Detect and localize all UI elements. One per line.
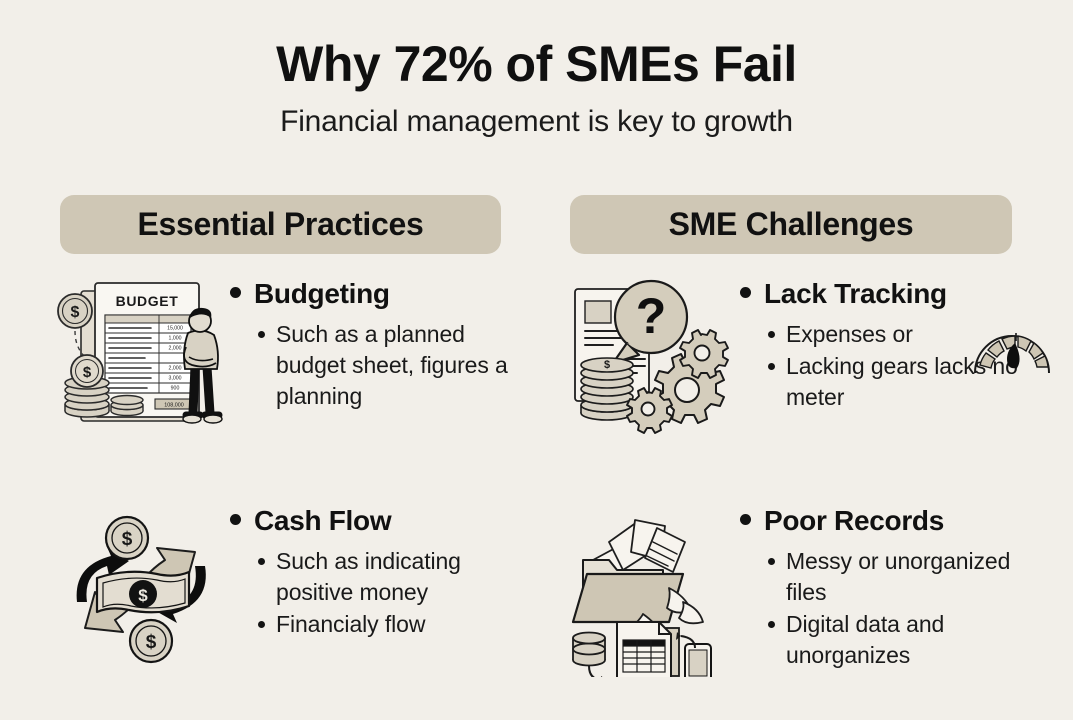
svg-text:3,000: 3,000 — [169, 376, 182, 382]
list-item: Such as indicating positive money — [258, 546, 525, 608]
main-bullet-cash-flow: Cash Flow — [230, 506, 525, 537]
sub-bullet-dot-icon — [258, 621, 265, 628]
svg-text:$: $ — [146, 632, 157, 653]
question-gears-coins-illustration: ? $ — [565, 275, 740, 440]
svg-text:$: $ — [83, 364, 92, 381]
column-sme-challenges: ? $ — [565, 275, 1035, 677]
sub-bullet-dot-icon — [258, 558, 265, 565]
question-bubble-icon: ? — [613, 281, 687, 363]
sub-bullet-dot-icon — [768, 331, 775, 338]
budget-sheet-icon: BUDGET — [55, 275, 230, 440]
svg-text:1,000: 1,000 — [169, 336, 182, 342]
main-bullet-budgeting: Budgeting — [230, 279, 525, 310]
sub-bullet-dot-icon — [258, 331, 265, 338]
svg-text:$: $ — [138, 586, 148, 605]
budget-sheet-illustration: BUDGET — [55, 275, 230, 440]
budgeting-text: Budgeting Such as a planned budget sheet… — [230, 275, 525, 413]
sub-points-lack-tracking: Expenses or Lacking gears lacks no meter — [768, 319, 1035, 413]
section-header-label: Essential Practices — [137, 206, 423, 243]
sub-bullet-dot-icon — [768, 558, 775, 565]
sub-point-text: Such as a planned budget sheet, figures … — [276, 319, 525, 412]
infographic-page: { "header": { "title": "Why 72% of SMEs … — [0, 0, 1073, 720]
sub-points-budgeting: Such as a planned budget sheet, figures … — [258, 319, 525, 412]
sub-bullet-dot-icon — [768, 363, 775, 370]
bullet-dot-icon — [230, 514, 241, 525]
lack-tracking-icon: ? $ — [565, 275, 740, 440]
sub-point-text: Financialy flow — [276, 609, 425, 640]
svg-text:2,000: 2,000 — [169, 346, 182, 352]
block-spacer — [565, 440, 1035, 502]
section-header-label: SME Challenges — [669, 206, 914, 243]
budget-sheet-title: BUDGET — [116, 293, 179, 309]
block-label: Cash Flow — [254, 506, 391, 537]
cash-flow-arrows-illustration: $ $ $ — [55, 502, 230, 667]
svg-text:2,000: 2,000 — [169, 366, 182, 372]
list-item: Expenses or — [768, 319, 1035, 350]
page-header: Why 72% of SMEs Fail Financial managemen… — [0, 38, 1073, 138]
smartphone-icon — [685, 644, 711, 677]
database-icon — [573, 633, 605, 666]
main-bullet-poor-records: Poor Records — [740, 506, 1035, 537]
svg-text:$: $ — [122, 529, 133, 550]
bullet-dot-icon — [740, 287, 751, 298]
page-subtitle: Financial management is key to growth — [0, 105, 1073, 138]
poor-records-icon — [565, 502, 740, 677]
column-essential-practices: BUDGET — [55, 275, 525, 667]
bullet-dot-icon — [740, 514, 751, 525]
sub-point-text: Lacking gears lacks no meter — [786, 351, 1035, 413]
svg-text:$: $ — [604, 359, 610, 371]
question-mark-glyph: ? — [636, 288, 667, 344]
sub-point-text: Messy or unorganized files — [786, 546, 1035, 608]
lack-tracking-text: Lack Tracking Expenses or Lacking gears … — [740, 275, 1035, 414]
sub-point-text: Expenses or — [786, 319, 913, 350]
block-label: Budgeting — [254, 279, 390, 310]
sub-points-poor-records: Messy or unorganized files Digital data … — [768, 546, 1035, 671]
svg-text:900: 900 — [171, 386, 180, 392]
section-header-essential-practices: Essential Practices — [60, 195, 501, 254]
list-item: Financialy flow — [258, 609, 525, 640]
list-item: Messy or unorganized files — [768, 546, 1035, 608]
sub-bullet-dot-icon — [768, 621, 775, 628]
sub-points-cash-flow: Such as indicating positive money Financ… — [258, 546, 525, 640]
section-header-sme-challenges: SME Challenges — [570, 195, 1012, 254]
block-poor-records: Poor Records Messy or unorganized files … — [565, 502, 1035, 677]
sub-point-text: Digital data and unorganizes — [786, 609, 1035, 671]
cash-flow-icon: $ $ $ — [55, 502, 230, 667]
bullet-dot-icon — [230, 287, 241, 298]
block-budgeting: BUDGET — [55, 275, 525, 440]
list-item: Digital data and unorganizes — [768, 609, 1035, 671]
block-lack-tracking: ? $ — [565, 275, 1035, 440]
list-item: Such as a planned budget sheet, figures … — [258, 319, 525, 412]
sub-point-text: Such as indicating positive money — [276, 546, 525, 608]
messy-folder-files-illustration — [565, 502, 740, 677]
svg-text:108,000: 108,000 — [164, 403, 184, 409]
list-item: Lacking gears lacks no meter — [768, 351, 1035, 413]
block-label: Lack Tracking — [764, 279, 947, 310]
block-spacer — [55, 440, 525, 502]
page-title: Why 72% of SMEs Fail — [0, 38, 1073, 91]
block-label: Poor Records — [764, 506, 944, 537]
svg-text:15,000: 15,000 — [167, 326, 183, 332]
svg-text:$: $ — [71, 304, 80, 321]
block-cash-flow: $ $ $ Cash Flow Such as indicating — [55, 502, 525, 667]
poor-records-text: Poor Records Messy or unorganized files … — [740, 502, 1035, 672]
banknote-icon: $ — [97, 572, 189, 613]
main-bullet-lack-tracking: Lack Tracking — [740, 279, 1035, 310]
cash-flow-text: Cash Flow Such as indicating positive mo… — [230, 502, 525, 641]
